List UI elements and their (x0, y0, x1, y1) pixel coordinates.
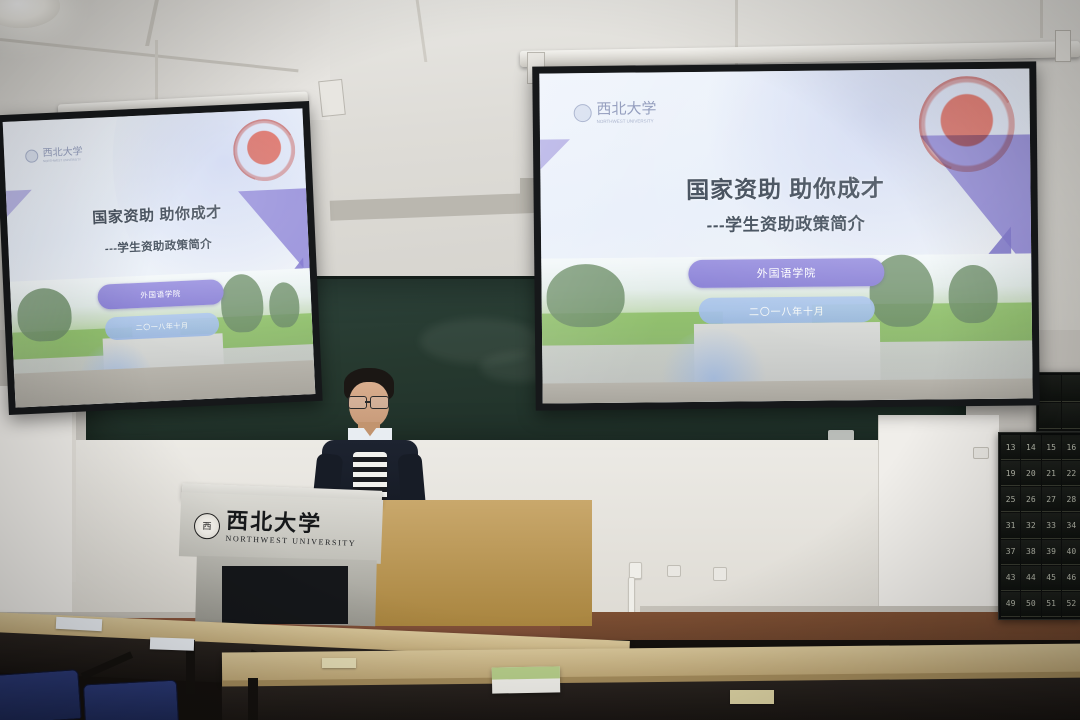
seat-cell-22[interactable]: 22 (1062, 461, 1080, 486)
slide-logo-subtitle: NORTHWEST UNIVERSITY (597, 119, 657, 124)
power-outlet[interactable] (667, 565, 681, 577)
seat-cell-39[interactable]: 39 (1042, 540, 1061, 565)
wall-panel-left (0, 386, 72, 620)
seat-cell-49[interactable]: 49 (1001, 592, 1020, 617)
screen-bracket-left (318, 79, 346, 117)
screen-bracket-right-far (1055, 30, 1071, 62)
seat-cell-40[interactable]: 40 (1062, 540, 1080, 565)
slide-pill-department: 外国语学院 (688, 258, 884, 288)
podium-wood-side (360, 500, 592, 626)
glasses-bridge (365, 401, 370, 403)
desk-leg (248, 678, 258, 720)
slide-university-logo: 西北大学 NORTHWEST UNIVERSITY (25, 147, 83, 164)
power-outlet[interactable] (713, 567, 727, 581)
right-projection-screen: 西北大学 NORTHWEST UNIVERSITY 国家资助 助你成才 ---学… (532, 61, 1040, 410)
seat-cell-38[interactable]: 38 (1021, 540, 1040, 565)
podium-name-en: NORTHWEST UNIVERSITY (225, 535, 356, 548)
slide-subtitle: ---学生资助政策简介 (541, 207, 1031, 237)
seat-cell-28[interactable]: 28 (1062, 487, 1080, 512)
seat-cell-15[interactable]: 15 (1042, 435, 1061, 460)
podium-name-cn: 西北大学 (226, 510, 357, 537)
seat-cell-45[interactable]: 45 (1042, 566, 1061, 591)
handout-paper (322, 658, 356, 668)
seat-cell-32[interactable]: 32 (1021, 513, 1040, 538)
wall-panel-right (878, 415, 999, 620)
university-seal-icon: 西 (194, 512, 221, 539)
wall-fixture (973, 447, 989, 459)
seat-number-panel[interactable]: 1314151619202122252627283132333437383940… (998, 432, 1080, 620)
slide-university-logo: 西北大学 NORTHWEST UNIVERSITY (574, 102, 657, 124)
seat-cell[interactable] (1062, 403, 1080, 430)
wall-conduit (1040, 0, 1043, 38)
slide-seal-icon (919, 75, 1016, 172)
seat-cell[interactable] (1039, 375, 1061, 402)
glasses-icon (370, 396, 389, 409)
podium-front-panel: 西 西北大学 NORTHWEST UNIVERSITY (179, 492, 383, 564)
seat-cell-16[interactable]: 16 (1062, 435, 1080, 460)
seat-cell-52[interactable]: 52 (1062, 592, 1080, 617)
seat-cell-37[interactable]: 37 (1001, 540, 1020, 565)
chair-2 (83, 680, 179, 720)
podium-interior (222, 566, 348, 624)
slide-right: 西北大学 NORTHWEST UNIVERSITY 国家资助 助你成才 ---学… (539, 68, 1032, 403)
seat-cell-46[interactable]: 46 (1062, 566, 1080, 591)
seat-cell-21[interactable]: 21 (1042, 461, 1061, 486)
decor-triangle (540, 139, 570, 169)
seat-cell-20[interactable]: 20 (1021, 461, 1040, 486)
slide-title: 国家资助 助你成才 (540, 167, 1030, 206)
handout-paper (150, 637, 194, 651)
desk-slot (730, 690, 774, 704)
slide-logo-name: 西北大学 (596, 102, 656, 118)
left-projection-screen: 西北大学 NORTHWEST UNIVERSITY 国家资助 助你成才 ---学… (0, 101, 323, 415)
seat-cell-43[interactable]: 43 (1001, 566, 1020, 591)
seat-cell-51[interactable]: 51 (1042, 592, 1061, 617)
seat-cell-50[interactable]: 50 (1021, 592, 1040, 617)
seat-cell-25[interactable]: 25 (1001, 487, 1020, 512)
seat-cell-34[interactable]: 34 (1062, 513, 1080, 538)
seat-cell-13[interactable]: 13 (1001, 435, 1020, 460)
wall-conduit (72, 386, 76, 582)
seat-cell-14[interactable]: 14 (1021, 435, 1040, 460)
podium-university-logo: 西 西北大学 NORTHWEST UNIVERSITY (193, 509, 357, 548)
seat-cell-31[interactable]: 31 (1001, 513, 1020, 538)
seat-cell-27[interactable]: 27 (1042, 487, 1061, 512)
seat-cell-44[interactable]: 44 (1021, 566, 1040, 591)
slide-pill-date: 二〇一八年十月 (698, 296, 875, 324)
seat-cell[interactable] (1039, 403, 1061, 430)
switch-conduit (628, 577, 635, 615)
booklet-cover (492, 666, 560, 680)
seat-cell[interactable] (1062, 375, 1080, 402)
lecture-hall-photo: 1314151619202122252627283132333437383940… (0, 0, 1080, 720)
seat-cell-33[interactable]: 33 (1042, 513, 1061, 538)
handout-paper (56, 617, 103, 631)
booklet-stack (492, 666, 560, 693)
slide-logo-subtitle: NORTHWEST UNIVERSITY (43, 158, 83, 163)
chair-1 (0, 669, 82, 720)
seat-cell-19[interactable]: 19 (1001, 461, 1020, 486)
seat-cell-26[interactable]: 26 (1021, 487, 1040, 512)
seat-number-panel-top[interactable] (1036, 372, 1080, 432)
